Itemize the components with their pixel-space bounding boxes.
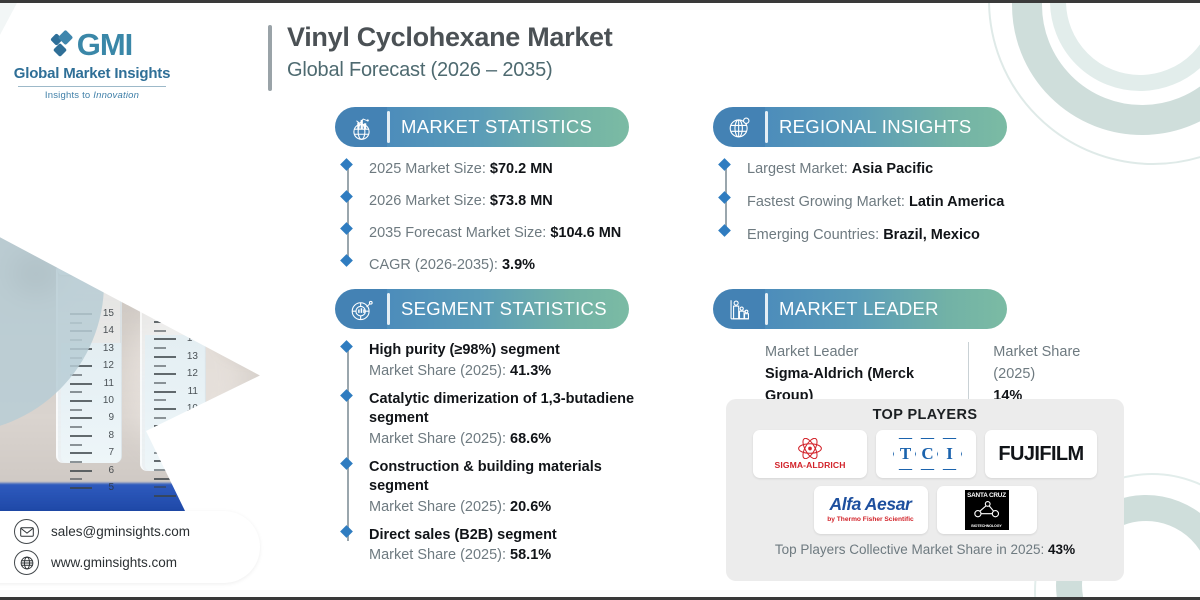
player-logo-tci: T C I <box>876 430 976 478</box>
item-value: Brazil, Mexico <box>883 227 980 243</box>
player-logo-sigma-aldrich: SIGMA-ALDRICH <box>753 430 867 478</box>
page-subtitle: Global Forecast (2026 – 2035) <box>287 59 612 82</box>
page-title: Vinyl Cyclohexane Market <box>287 21 612 55</box>
contact-email-row[interactable]: sales@gminsights.com <box>14 519 260 544</box>
item-value: 68.6% <box>510 431 551 447</box>
collective-share-label: Top Players Collective Market Share in 2… <box>775 542 1048 557</box>
title-accent-bar <box>268 25 272 91</box>
gmi-logo-tagline: Insights to Innovation <box>12 90 172 101</box>
segment-title: Direct sales (B2B) segment <box>369 526 665 546</box>
top-players-panel: TOP PLAYERS SIGMA-ALDRICH <box>726 399 1124 581</box>
bullet-marker-icon <box>719 192 730 203</box>
item-label: Emerging Countries: <box>747 227 883 243</box>
market-leader-share-label: Market Share (2025) <box>993 342 1113 386</box>
pill-divider <box>387 111 390 143</box>
market-leader-share-column: Market Share (2025) 14% <box>968 342 1113 407</box>
market-statistics-item: 2025 Market Size: $70.2 MN <box>369 159 655 180</box>
bullet-marker-icon <box>341 526 352 537</box>
player-logo-text: SANTA CRUZ <box>967 492 1006 499</box>
bullet-timeline <box>347 165 349 259</box>
bullet-marker-icon <box>341 341 352 352</box>
regional-insights-item: Emerging Countries: Brazil, Mexico <box>747 225 1073 246</box>
player-logo-subtext: BIOTECHNOLOGY <box>971 524 1001 528</box>
top-players-row-2: Alfa Aesar by Thermo Fisher Scientific S… <box>740 486 1110 534</box>
globe-icon <box>14 550 39 575</box>
segment-title: Construction & building materials segmen… <box>369 458 665 497</box>
segment-statistics-item: High purity (≥98%) segmentMarket Share (… <box>369 341 665 382</box>
gmi-tagline-part1: Insights to <box>45 90 93 101</box>
regional-insights-item: Largest Market: Asia Pacific <box>747 159 1073 180</box>
item-value: 58.1% <box>510 547 551 563</box>
pill-divider <box>387 293 390 325</box>
player-logo-fujifilm: FUJIFILM <box>985 430 1097 478</box>
item-value: Asia Pacific <box>852 161 933 177</box>
regional-insights-list: Largest Market: Asia PacificFastest Grow… <box>713 159 1073 246</box>
pill-divider <box>765 111 768 143</box>
decor-white-right-edge <box>300 3 340 600</box>
player-logo-text: FUJIFILM <box>998 443 1083 465</box>
contact-website-row[interactable]: www.gminsights.com <box>14 550 260 575</box>
collective-share-value: 43% <box>1048 542 1075 557</box>
market-leader-section: MARKET LEADER Market Leader Sigma-Aldric… <box>713 289 1113 407</box>
globe-pin-icon <box>713 107 765 147</box>
bullet-timeline <box>347 349 349 541</box>
podium-leaderboard-icon <box>713 289 765 329</box>
market-leader-name-column: Market Leader Sigma-Aldrich (Merck Group… <box>765 342 946 407</box>
item-value: 41.3% <box>510 363 551 379</box>
item-value: $104.6 MN <box>550 225 621 241</box>
contact-footer: sales@gminsights.com www.gminsights.com <box>0 511 260 583</box>
item-value: 3.9% <box>502 257 535 273</box>
market-statistics-item: CAGR (2026-2035): 3.9% <box>369 255 655 276</box>
top-players-collective-share: Top Players Collective Market Share in 2… <box>740 542 1110 557</box>
market-statistics-list: 2025 Market Size: $70.2 MN2026 Market Si… <box>335 159 655 276</box>
regional-insights-title: REGIONAL INSIGHTS <box>763 107 1007 147</box>
bullet-marker-icon <box>719 159 730 170</box>
bullet-marker-icon <box>341 458 352 469</box>
item-label: Largest Market: <box>747 161 852 177</box>
item-label: 2035 Forecast Market Size: <box>369 225 550 241</box>
top-players-title: TOP PLAYERS <box>740 407 1110 423</box>
contact-website: www.gminsights.com <box>51 555 177 570</box>
gmi-logo-divider <box>18 86 166 87</box>
bullet-marker-icon <box>341 159 352 170</box>
segment-statistics-section: SEGMENT STATISTICS High purity (≥98%) se… <box>335 289 665 574</box>
bullet-marker-icon <box>341 223 352 234</box>
item-label: Market Share (2025): <box>369 363 510 379</box>
gmi-logo-name: Global Market Insights <box>12 65 172 82</box>
item-label: CAGR (2026-2035): <box>369 257 502 273</box>
item-value: $70.2 MN <box>490 161 553 177</box>
segment-statistics-header: SEGMENT STATISTICS <box>335 289 665 329</box>
market-leader-body: Market Leader Sigma-Aldrich (Merck Group… <box>713 342 1113 407</box>
item-label: Market Share (2025): <box>369 499 510 515</box>
gmi-diamond-mark-icon <box>52 32 74 58</box>
market-statistics-item: 2026 Market Size: $73.8 MN <box>369 191 655 212</box>
item-label: Fastest Growing Market: <box>747 194 909 210</box>
regional-insights-header: REGIONAL INSIGHTS <box>713 107 1073 147</box>
segment-statistics-item: Catalytic dimerization of 1,3-butadiene … <box>369 390 665 450</box>
player-logo-subtext: by Thermo Fisher Scientific <box>827 517 913 524</box>
market-statistics-section: MARKET STATISTICS 2025 Market Size: $70.… <box>335 107 655 287</box>
segment-statistics-list: High purity (≥98%) segmentMarket Share (… <box>335 341 665 566</box>
item-label: Market Share (2025): <box>369 431 510 447</box>
segment-statistics-title: SEGMENT STATISTICS <box>385 289 629 329</box>
regional-insights-item: Fastest Growing Market: Latin America <box>747 192 1073 213</box>
item-value: $73.8 MN <box>490 193 553 209</box>
market-statistics-title: MARKET STATISTICS <box>385 107 629 147</box>
pie-chart-analytics-icon <box>335 289 387 329</box>
tci-letter-c: C <box>915 438 940 470</box>
infographic-root: 15141312111098765 15141312111098765 GMI … <box>0 0 1200 600</box>
bullet-marker-icon <box>341 191 352 202</box>
item-label: 2025 Market Size: <box>369 161 490 177</box>
player-logo-santa-cruz: SANTA CRUZ BIOTECHNOLOGY <box>937 486 1037 534</box>
regional-insights-section: REGIONAL INSIGHTS Largest Market: Asia P… <box>713 107 1073 258</box>
bullet-marker-icon <box>719 225 730 236</box>
segment-title: Catalytic dimerization of 1,3-butadiene … <box>369 390 665 429</box>
envelope-icon <box>14 519 39 544</box>
gmi-tagline-part2: Innovation <box>93 90 139 101</box>
gmi-logo-text: GMI <box>77 29 133 60</box>
segment-title: High purity (≥98%) segment <box>369 341 665 361</box>
item-label: 2026 Market Size: <box>369 193 490 209</box>
page-title-block: Vinyl Cyclohexane Market Global Forecast… <box>268 21 612 82</box>
market-leader-header: MARKET LEADER <box>713 289 1113 329</box>
bullet-marker-icon <box>341 390 352 401</box>
market-leader-label: Market Leader <box>765 342 946 364</box>
globe-bar-chart-icon <box>335 107 387 147</box>
item-value: 20.6% <box>510 499 551 515</box>
market-statistics-header: MARKET STATISTICS <box>335 107 655 147</box>
item-value: Latin America <box>909 194 1004 210</box>
player-logo-text: SIGMA-ALDRICH <box>775 461 846 470</box>
segment-statistics-item: Construction & building materials segmen… <box>369 458 665 518</box>
player-logo-alfa-aesar: Alfa Aesar by Thermo Fisher Scientific <box>814 486 928 534</box>
bullet-marker-icon <box>341 255 352 266</box>
tci-letter-t: T <box>893 438 918 470</box>
pill-divider <box>765 293 768 325</box>
market-statistics-item: 2035 Forecast Market Size: $104.6 MN <box>369 223 655 244</box>
molecule-icon <box>973 500 1001 524</box>
atom-icon <box>775 438 846 459</box>
item-label: Market Share (2025): <box>369 547 510 563</box>
market-leader-title: MARKET LEADER <box>763 289 1007 329</box>
contact-email: sales@gminsights.com <box>51 524 190 539</box>
top-players-row-1: SIGMA-ALDRICH T C I FUJIFILM <box>740 430 1110 478</box>
gmi-logo: GMI Global Market Insights Insights to I… <box>12 29 172 101</box>
segment-statistics-item: Direct sales (B2B) segmentMarket Share (… <box>369 526 665 567</box>
tci-letter-i: I <box>937 438 962 470</box>
player-logo-text: Alfa Aesar <box>827 496 913 514</box>
